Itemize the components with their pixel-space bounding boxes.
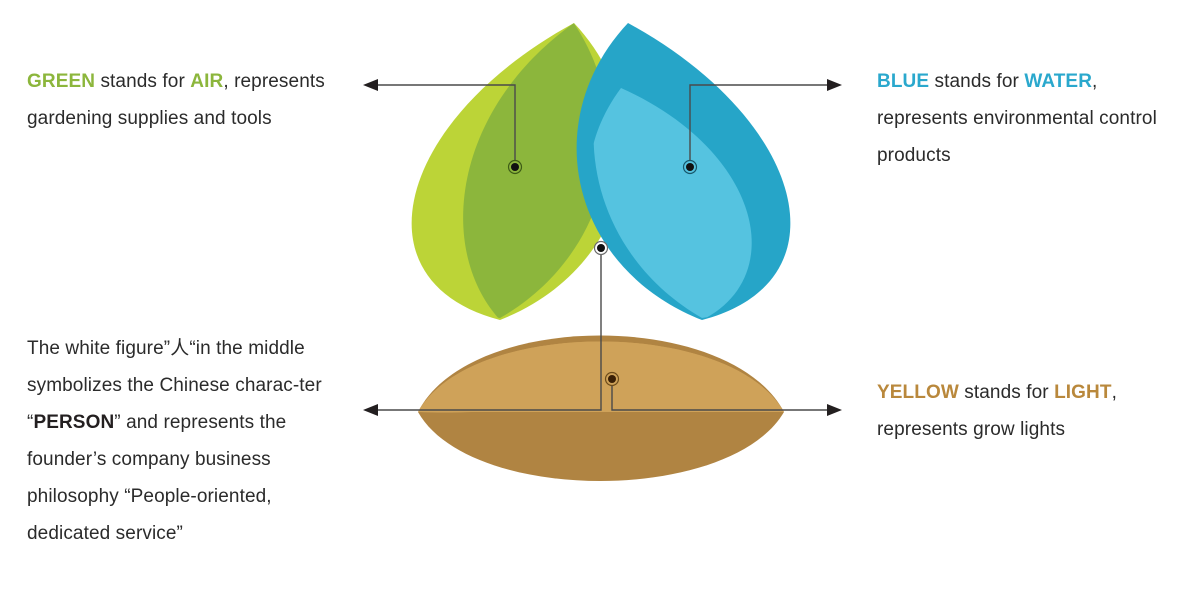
yellow-left-arrowhead-icon	[363, 404, 378, 416]
callout-blue-keyword2: WATER	[1024, 71, 1092, 92]
callout-green-keyword2: AIR	[190, 71, 223, 92]
callout-green: GREEN stands for AIR, represents gardeni…	[27, 63, 367, 137]
blue-arrowhead-icon	[827, 79, 842, 91]
callout-blue-mid: stands for	[929, 71, 1024, 92]
yellow-right-arrowhead-icon	[827, 404, 842, 416]
callout-green-keyword: GREEN	[27, 71, 95, 92]
callout-person: The white figure”人“in the middle symboli…	[27, 330, 357, 552]
callout-blue-keyword: BLUE	[877, 71, 929, 92]
callout-yellow-mid: stands for	[959, 382, 1054, 403]
callout-person-keyword: PERSON	[33, 412, 114, 433]
callout-green-mid: stands for	[95, 71, 190, 92]
callout-yellow-keyword2: LIGHT	[1054, 382, 1112, 403]
callout-person-part1: The white figure”	[27, 338, 170, 359]
yellow-marker-core	[608, 375, 616, 383]
center-marker-core	[597, 244, 605, 252]
blue-leaf-shape	[577, 23, 791, 320]
callout-blue: BLUE stands for WATER, represents enviro…	[877, 63, 1177, 174]
person-glyph: 人	[170, 338, 189, 359]
green-marker-core	[511, 163, 519, 171]
diagram-canvas: GREEN stands for AIR, represents gardeni…	[0, 0, 1200, 589]
blue-marker-core	[686, 163, 694, 171]
callout-yellow-keyword: YELLOW	[877, 382, 959, 403]
callout-yellow: YELLOW stands for LIGHT, represents grow…	[877, 374, 1177, 448]
